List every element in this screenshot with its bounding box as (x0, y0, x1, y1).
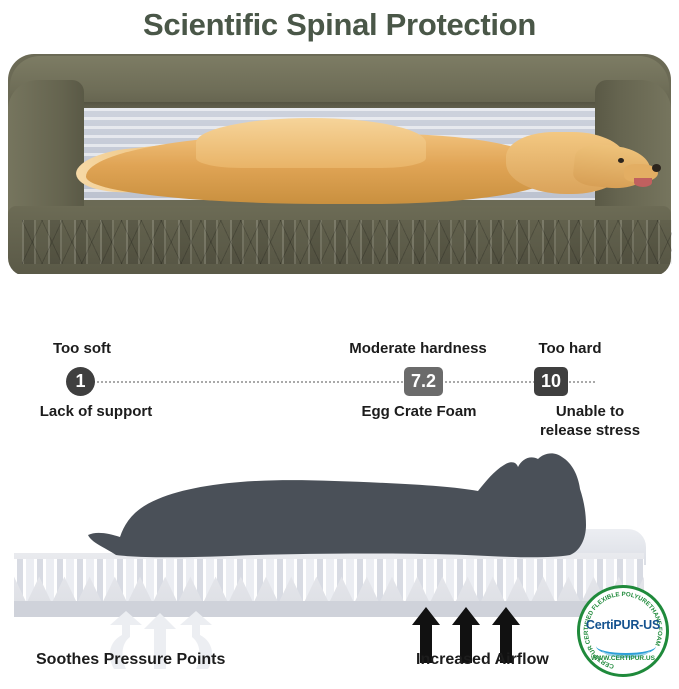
caption-increased-airflow: Increased Airflow (416, 651, 549, 669)
dog-tongue (634, 178, 652, 187)
scale-bottom-label-unable-to-release-stress: Unable to release stress (512, 402, 668, 440)
cross-section-diagram: Soothes Pressure Points Increased Airflo… (0, 447, 679, 679)
scale-bottom-label-egg-crate-foam: Egg Crate Foam (330, 402, 508, 421)
scale-top-label-too-hard: Too hard (506, 340, 634, 357)
certipur-badge-url: WWW.CERTIPUR.US (580, 655, 666, 662)
certipur-us-badge: CERTIPUR CERTIFIED FLEXIBLE POLYURETHANE… (577, 585, 669, 677)
hardness-scale: Too soft Moderate hardness Too hard 1 7.… (0, 336, 679, 441)
scale-marker-10: 10 (534, 367, 568, 396)
bed-front-edge (8, 206, 671, 274)
caption-soothes-pressure-points: Soothes Pressure Points (36, 651, 225, 669)
bed-quilting-pattern (22, 220, 672, 264)
dog-nose (652, 164, 661, 172)
scale-top-label-moderate: Moderate hardness (320, 340, 516, 357)
scale-marker-1: 1 (66, 367, 95, 396)
scale-top-label-too-soft: Too soft (24, 340, 140, 357)
product-photo (0, 46, 679, 274)
dog-back (196, 118, 426, 168)
certipur-badge-name: CertiPUR-US (580, 618, 666, 632)
scale-bottom-label-lack-of-support: Lack of support (8, 402, 184, 421)
scale-dotted-line (82, 381, 595, 383)
page-title: Scientific Spinal Protection (0, 0, 679, 46)
bed-back-bolster (10, 56, 669, 114)
dog-eye (618, 158, 624, 163)
bed-quilting-lines (22, 220, 672, 264)
dog-silhouette (86, 447, 616, 567)
golden-retriever-photo (86, 124, 646, 210)
scale-marker-7-2: 7.2 (404, 367, 443, 396)
